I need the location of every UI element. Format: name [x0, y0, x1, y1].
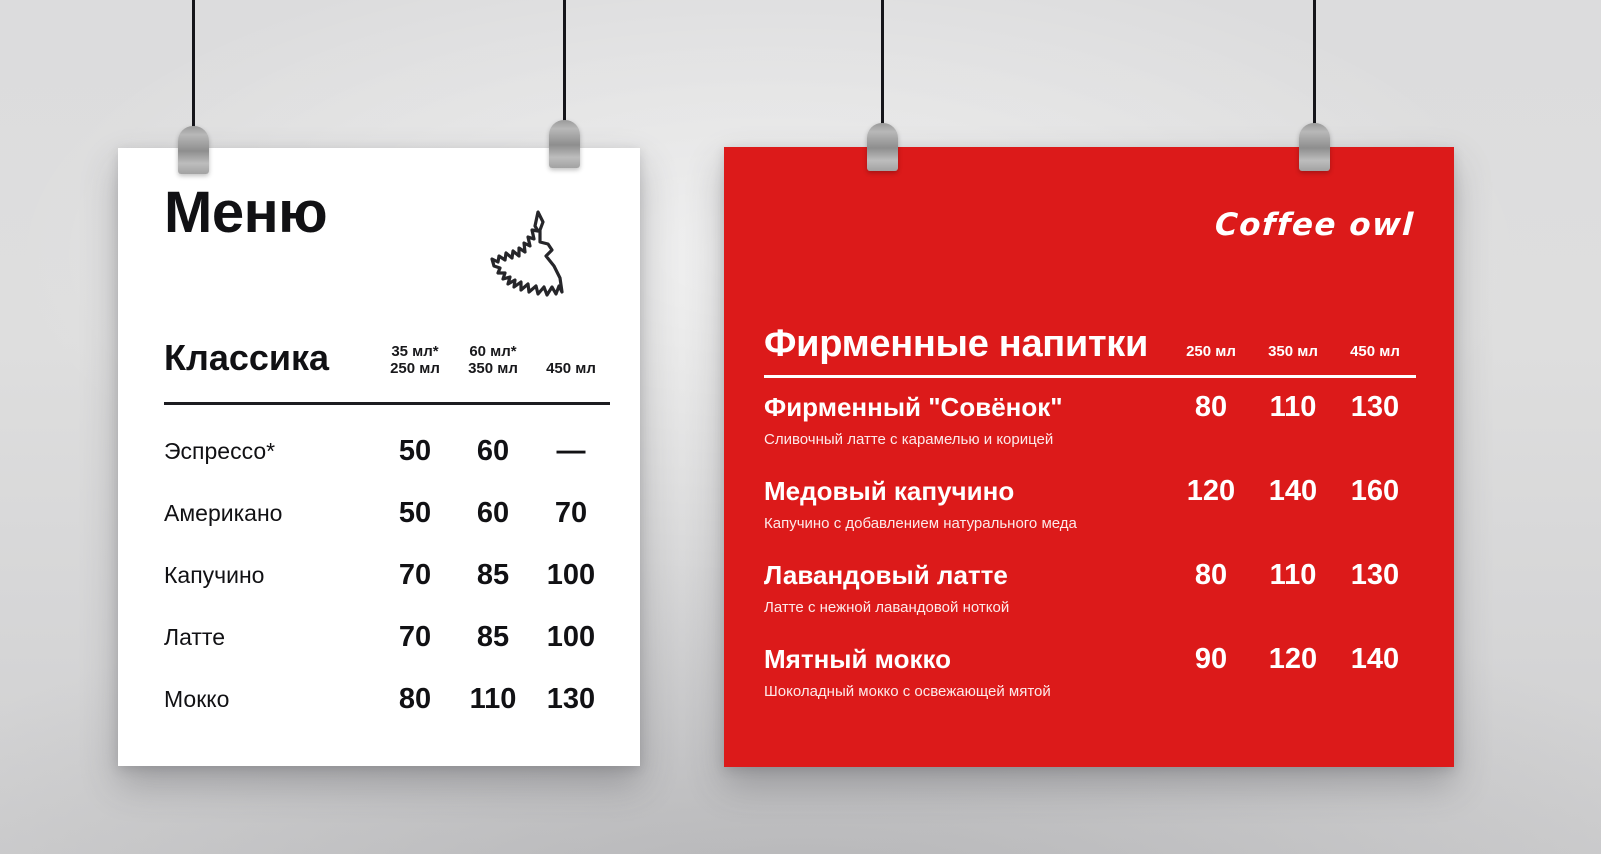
price-cell: 80 [376, 683, 454, 716]
brand-logo: Coffee owl [1214, 207, 1415, 243]
volume-column-1-top: 35 мл* [376, 343, 454, 361]
classic-menu-card: Меню Классика 35 мл* 250 мл 60 мл* 350 м… [118, 148, 640, 766]
price-cell: 130 [1334, 391, 1416, 424]
price-cell: 85 [454, 621, 532, 654]
table-row: Американо 50 60 70 [164, 482, 610, 544]
menu-board-scene: Меню Классика 35 мл* 250 мл 60 мл* 350 м… [0, 0, 1601, 854]
drink-name: Капучино [164, 562, 376, 589]
table-row: Мятный мокко 90 120 140 Шоколадный мокко… [764, 643, 1416, 727]
table-row: Мокко 80 110 130 [164, 668, 610, 730]
price-cell: 120 [1170, 475, 1252, 508]
drink-main-line: Медовый капучино 120 140 160 [764, 475, 1416, 508]
drink-main-line: Лавандовый латте 80 110 130 [764, 559, 1416, 592]
signature-price-table: Фирменный "Совёнок" 80 110 130 Сливочный… [764, 391, 1416, 727]
hanging-wire-left-2 [563, 0, 566, 128]
drink-main-line: Фирменный "Совёнок" 80 110 130 [764, 391, 1416, 424]
price-cell: 60 [454, 497, 532, 530]
price-cell: 85 [454, 559, 532, 592]
signature-volume-columns: 250 мл 350 мл 450 мл [1148, 343, 1416, 360]
table-row: Лавандовый латте 80 110 130 Латте с нежн… [764, 559, 1416, 643]
drink-prices: 50 60 70 [376, 497, 610, 530]
price-cell: 50 [376, 435, 454, 468]
price-cell: 50 [376, 497, 454, 530]
table-row: Медовый капучино 120 140 160 Капучино с … [764, 475, 1416, 559]
drink-name: Медовый капучино [764, 476, 1170, 507]
drink-prices: 50 60 — [376, 435, 610, 468]
hanging-clip-right-1 [867, 123, 898, 171]
volume-column-3: 450 мл [532, 360, 610, 378]
price-cell: 70 [376, 559, 454, 592]
volume-column-3: 450 мл [1334, 343, 1416, 360]
classic-price-table: Эспрессо* 50 60 — Американо 50 60 70 [164, 420, 610, 730]
drink-prices: 70 85 100 [376, 559, 610, 592]
drink-name: Американо [164, 500, 376, 527]
drink-name: Эспрессо* [164, 438, 376, 465]
table-row: Фирменный "Совёнок" 80 110 130 Сливочный… [764, 391, 1416, 475]
drink-name: Мокко [164, 686, 376, 713]
signature-menu-content: Coffee owl Фирменные напитки 250 мл 350 … [764, 177, 1416, 741]
drink-description: Шоколадный мокко с освежающей мятой [764, 683, 1416, 700]
volume-column-1: 35 мл* 250 мл [376, 343, 454, 378]
hanging-clip-right-2 [1299, 123, 1330, 171]
volume-column-2: 350 мл [1252, 343, 1334, 360]
price-cell: 160 [1334, 475, 1416, 508]
volume-column-2-bottom: 350 мл [454, 360, 532, 378]
table-row: Капучино 70 85 100 [164, 544, 610, 606]
signature-header-divider [764, 375, 1416, 378]
drink-description: Капучино с добавлением натурального меда [764, 515, 1416, 532]
section-label-classic: Классика [164, 340, 329, 378]
signature-menu-card: Coffee owl Фирменные напитки 250 мл 350 … [724, 147, 1454, 767]
hanging-clip-left-2 [549, 120, 580, 168]
table-row: Эспрессо* 50 60 — [164, 420, 610, 482]
hanging-wire-right-1 [881, 0, 884, 131]
price-cell: 100 [532, 559, 610, 592]
drink-description: Латте с нежной лавандовой ноткой [764, 599, 1416, 616]
classic-section-header: Классика 35 мл* 250 мл 60 мл* 350 мл 450… [164, 340, 610, 378]
price-cell: 100 [532, 621, 610, 654]
drink-prices: 120 140 160 [1170, 475, 1416, 508]
drink-prices: 80 110 130 [376, 683, 610, 716]
price-cell: 140 [1334, 643, 1416, 676]
price-cell: 80 [1170, 391, 1252, 424]
drink-name: Лавандовый латте [764, 560, 1170, 591]
drink-name: Фирменный "Совёнок" [764, 392, 1170, 423]
price-cell: 90 [1170, 643, 1252, 676]
price-cell: 70 [532, 497, 610, 530]
price-cell: — [532, 435, 610, 468]
price-cell: 60 [454, 435, 532, 468]
drink-description: Сливочный латте с карамелью и корицей [764, 431, 1416, 448]
volume-column-2: 60 мл* 350 мл [454, 343, 532, 378]
drink-prices: 90 120 140 [1170, 643, 1416, 676]
volume-column-1: 250 мл [1170, 343, 1252, 360]
volume-column-3-bottom: 450 мл [532, 360, 610, 378]
price-cell: 120 [1252, 643, 1334, 676]
signature-section-header: Фирменные напитки 250 мл 350 мл 450 мл [764, 325, 1416, 363]
drink-name: Мятный мокко [764, 644, 1170, 675]
classic-header-divider [164, 402, 610, 405]
hanging-wire-right-2 [1313, 0, 1316, 131]
price-cell: 110 [454, 683, 532, 716]
drink-name: Латте [164, 624, 376, 651]
drink-prices: 80 110 130 [1170, 559, 1416, 592]
price-cell: 130 [1334, 559, 1416, 592]
volume-column-1-bottom: 250 мл [376, 360, 454, 378]
drink-prices: 80 110 130 [1170, 391, 1416, 424]
table-row: Латте 70 85 100 [164, 606, 610, 668]
price-cell: 70 [376, 621, 454, 654]
classic-menu-content: Меню Классика 35 мл* 250 мл 60 мл* 350 м… [164, 184, 610, 738]
hanging-clip-left-1 [178, 126, 209, 174]
drink-main-line: Мятный мокко 90 120 140 [764, 643, 1416, 676]
bird-outline-icon [478, 206, 566, 310]
price-cell: 80 [1170, 559, 1252, 592]
price-cell: 130 [532, 683, 610, 716]
classic-volume-columns: 35 мл* 250 мл 60 мл* 350 мл 450 мл [329, 343, 610, 378]
price-cell: 110 [1252, 559, 1334, 592]
price-cell: 110 [1252, 391, 1334, 424]
drink-prices: 70 85 100 [376, 621, 610, 654]
price-cell: 140 [1252, 475, 1334, 508]
section-label-signature: Фирменные напитки [764, 325, 1148, 363]
volume-column-2-top: 60 мл* [454, 343, 532, 361]
hanging-wire-left-1 [192, 0, 195, 134]
